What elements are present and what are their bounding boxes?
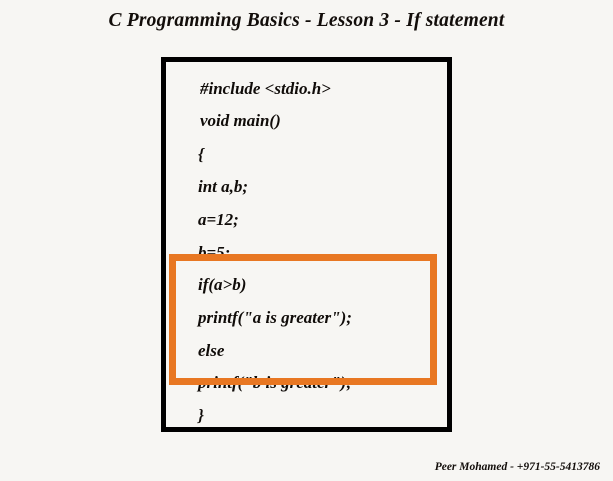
code-line: #include <stdio.h> [200,80,331,97]
code-line: } [198,407,204,424]
code-line: int a,b; [198,178,248,195]
slide-canvas: C Programming Basics - Lesson 3 - If sta… [0,0,613,481]
if-else-highlight-box [169,254,437,385]
code-line: void main() [200,112,281,129]
page-title: C Programming Basics - Lesson 3 - If sta… [0,10,613,32]
code-line: a=12; [198,211,239,228]
footer-credit: Peer Mohamed - +971-55-5413786 [435,461,600,473]
code-line: { [198,146,204,163]
